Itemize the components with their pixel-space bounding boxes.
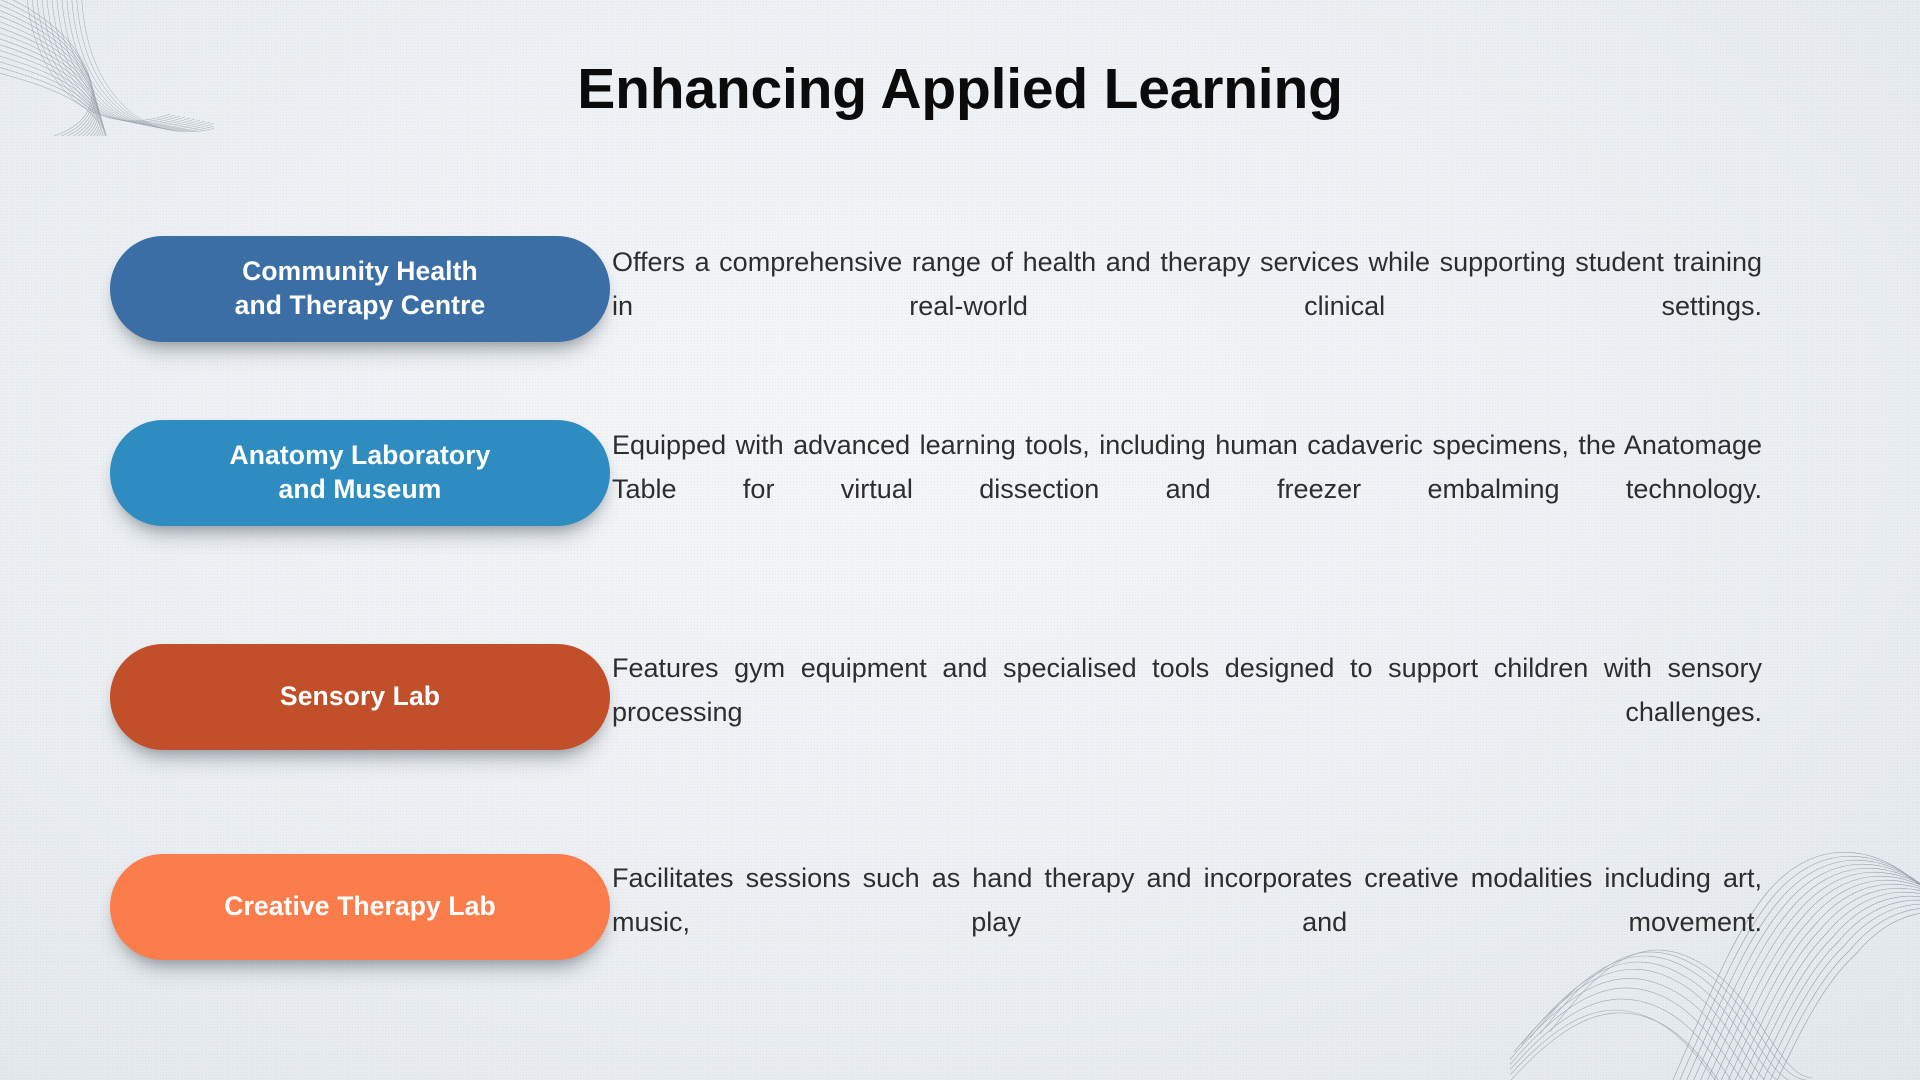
description-cell: Features gym equipment and specialised t… [612, 644, 1920, 778]
page-title: Enhancing Applied Learning [0, 60, 1920, 120]
description-cell: Equipped with advanced learning tools, i… [612, 420, 1920, 555]
category-pill-community-health-and-therapy-centre[interactable]: Community Health and Therapy Centre [110, 236, 610, 342]
category-pill-label: Community Health and Therapy Centre [235, 255, 486, 323]
category-pill-anatomy-laboratory-and-museum[interactable]: Anatomy Laboratory and Museum [110, 420, 610, 526]
category-pill-label: Sensory Lab [280, 680, 440, 714]
list-item: Community Health and Therapy Centre Offe… [0, 236, 1920, 420]
pill-cell: Sensory Lab [0, 644, 612, 750]
description-text: Offers a comprehensive range of health a… [612, 240, 1762, 372]
category-pill-label: Anatomy Laboratory and Museum [230, 439, 491, 507]
list-item: Anatomy Laboratory and Museum Equipped w… [0, 420, 1920, 644]
category-pill-creative-therapy-lab[interactable]: Creative Therapy Lab [110, 854, 610, 960]
list-item: Creative Therapy Lab Facilitates session… [0, 854, 1920, 1034]
category-pill-sensory-lab[interactable]: Sensory Lab [110, 644, 610, 750]
category-pill-label: Creative Therapy Lab [224, 890, 496, 924]
content-rows: Community Health and Therapy Centre Offe… [0, 236, 1920, 1034]
description-text: Facilitates sessions such as hand therap… [612, 856, 1762, 988]
pill-cell: Community Health and Therapy Centre [0, 236, 612, 342]
description-text: Features gym equipment and specialised t… [612, 646, 1762, 778]
pill-cell: Anatomy Laboratory and Museum [0, 420, 612, 526]
description-cell: Facilitates sessions such as hand therap… [612, 854, 1920, 988]
pill-cell: Creative Therapy Lab [0, 854, 612, 960]
list-item: Sensory Lab Features gym equipment and s… [0, 644, 1920, 854]
slide-canvas: Enhancing Applied Learning Community Hea… [0, 0, 1920, 1080]
description-cell: Offers a comprehensive range of health a… [612, 236, 1920, 372]
description-text: Equipped with advanced learning tools, i… [612, 423, 1762, 555]
